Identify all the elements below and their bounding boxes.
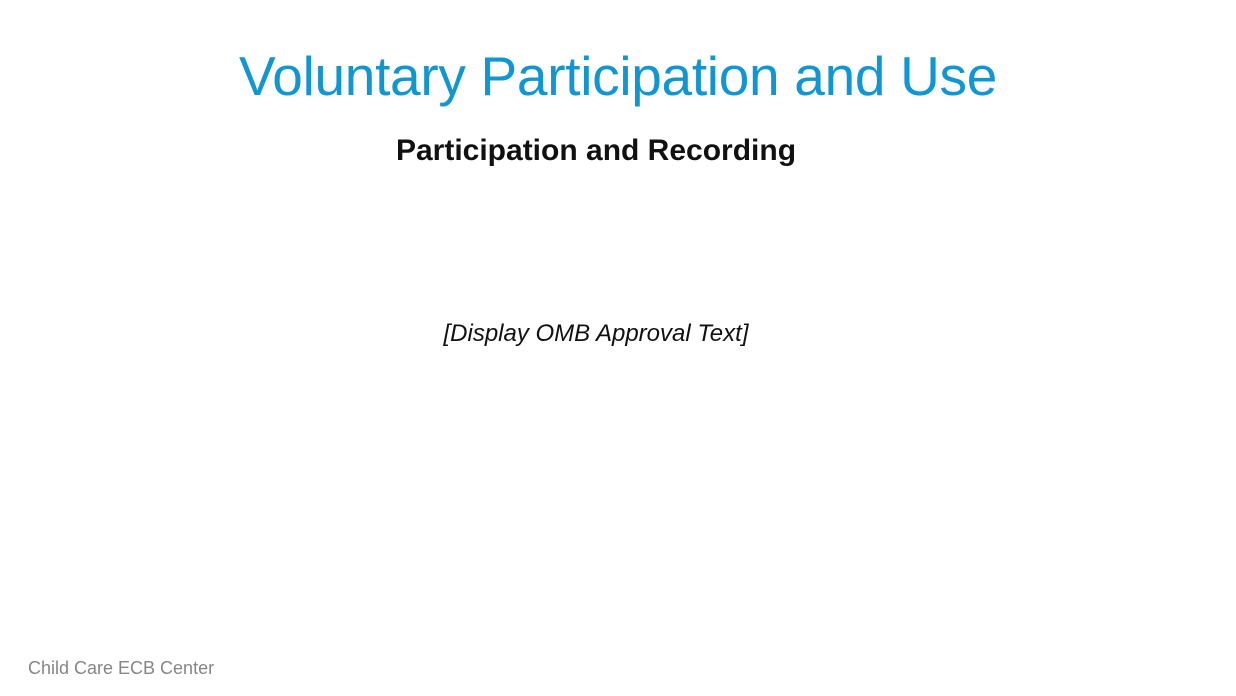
presentation-slide: Voluntary Participation and Use Particip… <box>0 0 1236 696</box>
slide-content-block: Participation and Recording [Display OMB… <box>64 133 1128 349</box>
slide-subtitle: Participation and Recording <box>64 133 1128 169</box>
footer-label: Child Care ECB Center <box>28 658 214 680</box>
slide-title-block: Voluntary Participation and Use <box>0 46 1236 108</box>
page-title: Voluntary Participation and Use <box>0 46 1236 108</box>
content-spacer <box>64 169 1128 319</box>
omb-approval-placeholder-text: [Display OMB Approval Text] <box>64 319 1128 349</box>
slide-footer: Child Care ECB Center <box>28 658 628 680</box>
